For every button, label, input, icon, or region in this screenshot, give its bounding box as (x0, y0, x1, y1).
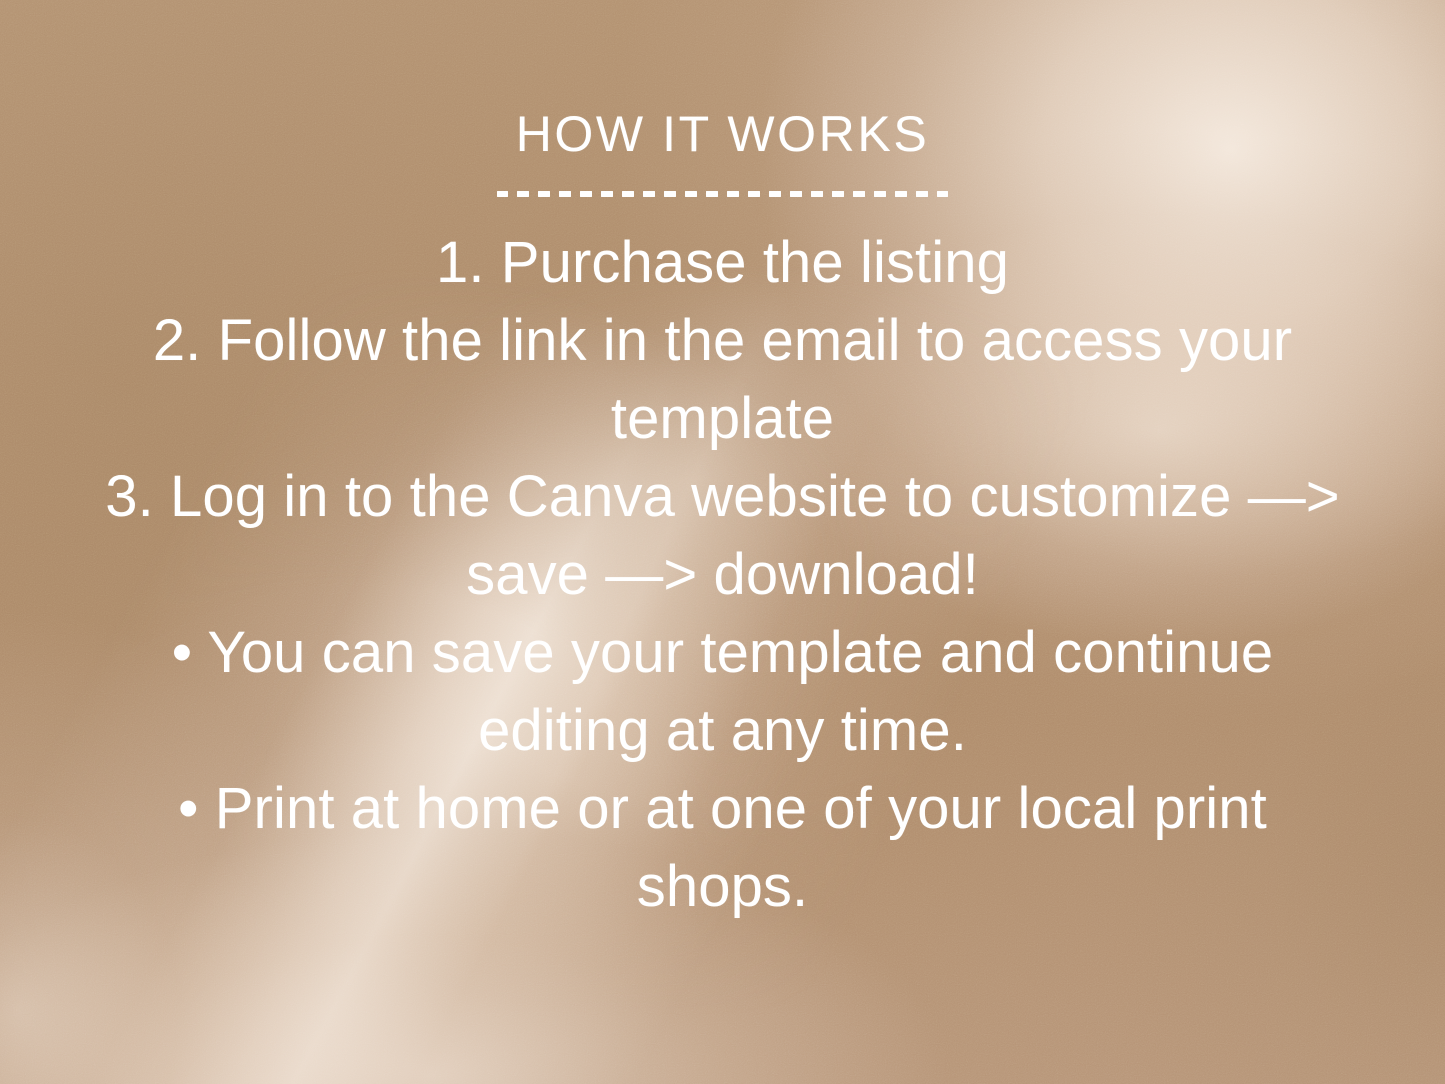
divider-dash (706, 191, 718, 197)
divider-dash (601, 191, 613, 197)
divider-dash (559, 191, 571, 197)
divider-dash (580, 191, 592, 197)
divider-dash (517, 191, 529, 197)
divider-dash (769, 191, 781, 197)
divider-dash (664, 191, 676, 197)
bullet-item-2: • Print at home or at one of your local … (98, 770, 1348, 926)
page-title: HOW IT WORKS (516, 108, 930, 161)
step-item-2: 2. Follow the link in the email to acces… (98, 302, 1348, 458)
divider-dash (853, 191, 865, 197)
divider-dash (727, 191, 739, 197)
divider-dash (832, 191, 844, 197)
divider-dash (643, 191, 655, 197)
divider-dash (748, 191, 760, 197)
step-item-1: 1. Purchase the listing (436, 224, 1009, 302)
divider-dash (811, 191, 823, 197)
step-item-3: 3. Log in to the Canva website to custom… (98, 458, 1348, 614)
bullet-item-1: • You can save your template and continu… (98, 614, 1348, 770)
divider-dash (937, 191, 949, 197)
divider-dash (685, 191, 697, 197)
divider-dash (538, 191, 550, 197)
steps-list: 1. Purchase the listing 2. Follow the li… (78, 224, 1368, 926)
divider-dash (874, 191, 886, 197)
listing-graphic-canvas: HOW IT WORKS 1. Purchas (0, 0, 1445, 1084)
divider-dash (790, 191, 802, 197)
divider-dash (895, 191, 907, 197)
divider-dash (622, 191, 634, 197)
content-stack: HOW IT WORKS 1. Purchas (0, 0, 1445, 1084)
divider-dash (916, 191, 928, 197)
dashed-divider (497, 191, 949, 197)
divider-dash (497, 191, 509, 197)
